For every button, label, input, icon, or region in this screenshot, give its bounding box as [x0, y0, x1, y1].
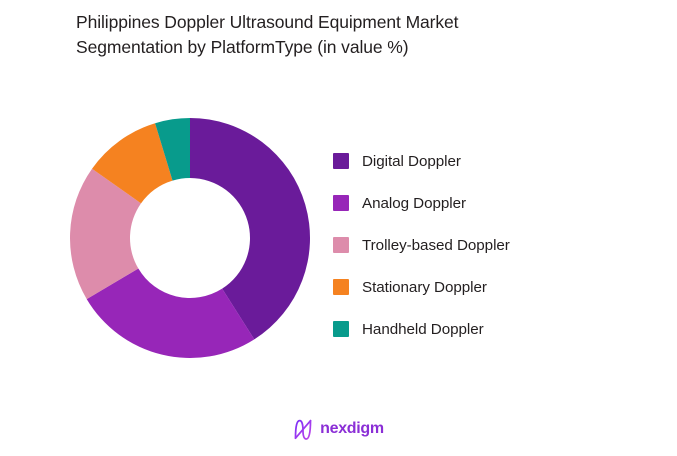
- legend-item[interactable]: Analog Doppler: [333, 182, 633, 224]
- legend-item-label: Handheld Doppler: [362, 321, 484, 338]
- nexdigm-n-logo-icon: [293, 418, 313, 440]
- page-title: Philippines Doppler Ultrasound Equipment…: [76, 10, 616, 60]
- legend-item[interactable]: Handheld Doppler: [333, 308, 633, 350]
- legend-item-label: Analog Doppler: [362, 195, 466, 212]
- donut-chart-card: Philippines Doppler Ultrasound Equipment…: [0, 0, 677, 456]
- legend-swatch-icon: [333, 321, 349, 337]
- legend-item-label: Digital Doppler: [362, 153, 461, 170]
- legend-swatch-icon: [333, 153, 349, 169]
- legend-swatch-icon: [333, 195, 349, 211]
- brand-name: nexdigm: [320, 420, 384, 438]
- brand-logo: nexdigm: [0, 418, 677, 440]
- legend-swatch-icon: [333, 237, 349, 253]
- legend-item-label: Stationary Doppler: [362, 279, 487, 296]
- legend-item[interactable]: Trolley-based Doppler: [333, 224, 633, 266]
- legend-item-label: Trolley-based Doppler: [362, 237, 510, 254]
- donut-chart: [70, 118, 310, 358]
- donut-chart-svg: [70, 118, 310, 358]
- donut-slice-group: [70, 118, 310, 358]
- legend-item[interactable]: Stationary Doppler: [333, 266, 633, 308]
- legend-swatch-icon: [333, 279, 349, 295]
- legend-item[interactable]: Digital Doppler: [333, 140, 633, 182]
- chart-legend: Digital DopplerAnalog DopplerTrolley-bas…: [333, 140, 633, 350]
